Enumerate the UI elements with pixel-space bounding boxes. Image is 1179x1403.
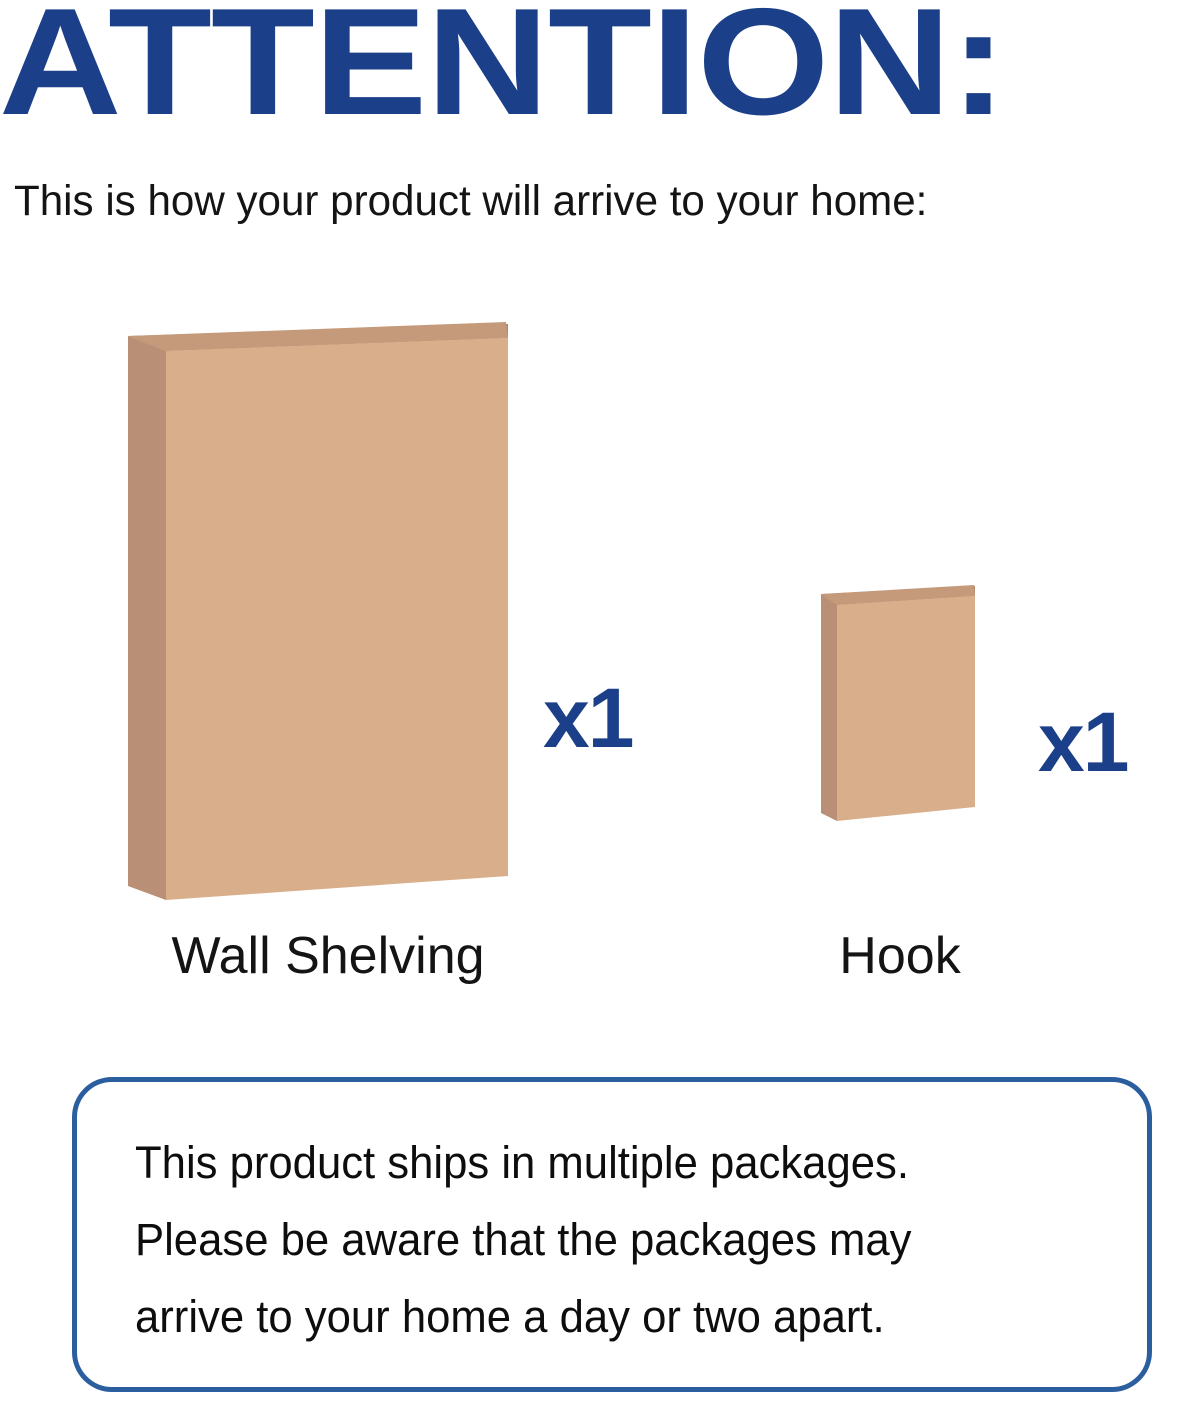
package-hook: Hook [815, 578, 995, 828]
package-caption-wall-shelving: Wall Shelving [113, 926, 543, 986]
notice-line-2: Please be aware that the packages may [135, 1201, 1066, 1278]
cardboard-box-large-icon [118, 308, 518, 908]
quantity-hook: x1 [1038, 700, 1127, 784]
shipping-notice-text: This product ships in multiple packages.… [135, 1124, 1066, 1355]
package-wall-shelving: Wall Shelving [118, 308, 518, 908]
packages-illustration: Wall Shelving x1 Hook x1 [0, 0, 1179, 1010]
cardboard-box-small-icon [815, 578, 995, 828]
shipping-notice-callout: This product ships in multiple packages.… [72, 1077, 1152, 1392]
package-caption-hook: Hook [810, 926, 990, 986]
quantity-wall-shelving: x1 [543, 676, 632, 760]
notice-line-3: arrive to your home a day or two apart. [135, 1278, 1066, 1355]
notice-line-1: This product ships in multiple packages. [135, 1124, 1066, 1201]
